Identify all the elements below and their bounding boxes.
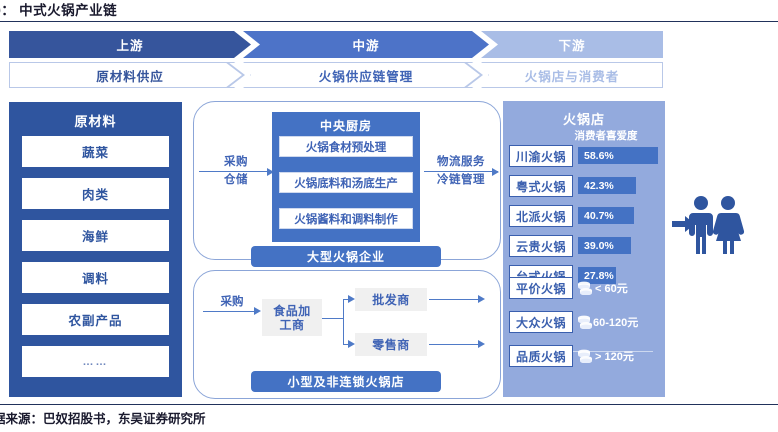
bar-category-0[interactable]: 川渝火锅: [509, 145, 573, 167]
top-rule: [0, 21, 778, 22]
flow-line-split-vertical: [343, 299, 344, 345]
coin-stack-icon-2: [575, 348, 594, 363]
price-tier-name-2[interactable]: 品质火锅: [509, 345, 573, 367]
central-kitchen-title: 中央厨房: [272, 117, 420, 134]
raw-material-item-more[interactable]: ……: [22, 346, 169, 377]
bar-value-0: 58.6%: [578, 147, 658, 164]
hotpot-store-title: 火锅店: [503, 109, 665, 128]
price-tier-range-2: > 120元: [595, 345, 634, 367]
role-supply-chain-mgmt[interactable]: 火锅供应链管理: [243, 62, 489, 88]
coldchain-label: 冷链管理: [424, 173, 498, 188]
bar-category-2[interactable]: 北派火锅: [509, 205, 573, 227]
arrowhead-icon-retail: [348, 340, 355, 348]
tier-downstream[interactable]: 下游: [481, 31, 663, 58]
tier-upstream[interactable]: 上游: [9, 31, 251, 58]
price-tier-range-1: 60-120元: [593, 311, 638, 333]
arrowhead-icon-wholesale-out: [478, 295, 485, 303]
procurement-label: 采购: [199, 155, 273, 170]
food-processor-node[interactable]: 食品加 工商: [262, 299, 322, 336]
role-stores-consumers[interactable]: 火锅店与消费者: [481, 62, 663, 88]
procurement-label-2: 采购: [205, 293, 259, 309]
wholesaler-node[interactable]: 批发商: [355, 288, 427, 311]
flow-line-purchase: [203, 311, 255, 312]
kitchen-item-soupbase[interactable]: 火锅底料和汤底生产: [279, 172, 413, 193]
source-note: 据来源：巴奴招股书，东吴证券研究所: [0, 408, 513, 430]
small-chain-label[interactable]: 小型及非连锁火锅店: [251, 371, 441, 392]
price-tier-range-0: < 60元: [595, 277, 628, 299]
exhibit-canvas: 9： 中式火锅产业链 上游 中游 下游 原材料供应 火锅供应链管理 火锅店与消费…: [0, 0, 778, 432]
large-enterprise-label[interactable]: 大型火锅企业: [251, 246, 441, 267]
raw-material-item-vegetables[interactable]: 蔬菜: [22, 136, 169, 167]
storage-label: 仓储: [199, 173, 273, 188]
arrowhead-icon-wholesale: [348, 295, 355, 303]
processor-line-1: 食品加: [273, 304, 311, 318]
hotpot-store-panel: 火锅店 消费者喜爱度 川渝火锅 58.6% 粤式火锅 42.3% 北派火锅 40…: [503, 101, 665, 397]
people-couple-icon: [678, 194, 750, 256]
raw-material-item-agri[interactable]: 农副产品: [22, 304, 169, 335]
procurement-storage-arrow: 采购 仓储: [199, 155, 273, 188]
coin-stack-icon-1: [575, 314, 594, 329]
flow-line-retail-out: [429, 344, 481, 345]
arrowhead-icon-retail-out: [478, 340, 485, 348]
exhibit-title: 9： 中式火锅产业链: [0, 0, 414, 22]
processor-line-2: 工商: [279, 318, 304, 332]
bar-value-3: 39.0%: [578, 237, 631, 254]
role-raw-material-supply[interactable]: 原材料供应: [9, 62, 251, 88]
raw-material-item-seasoning[interactable]: 调料: [22, 262, 169, 293]
raw-material-item-meat[interactable]: 肉类: [22, 178, 169, 209]
bar-category-1[interactable]: 粤式火锅: [509, 175, 573, 197]
chart-subtitle: 消费者喜爱度: [551, 128, 661, 143]
role-band: 原材料供应 火锅供应链管理 火锅店与消费者: [9, 62, 663, 88]
flow-line-split-stem: [322, 318, 344, 319]
bar-value-2: 40.7%: [578, 207, 634, 224]
tier-midstream[interactable]: 中游: [243, 31, 489, 58]
kitchen-item-prep[interactable]: 火锅食材预处理: [279, 136, 413, 157]
bar-category-3[interactable]: 云贵火锅: [509, 235, 573, 257]
retailer-node[interactable]: 零售商: [355, 333, 427, 356]
bottom-rule: [0, 404, 778, 405]
price-tier-name-1[interactable]: 大众火锅: [509, 311, 573, 333]
logistics-label: 物流服务: [424, 155, 498, 170]
logistics-coldchain-arrow: 物流服务 冷链管理: [424, 155, 498, 188]
tier-band: 上游 中游 下游: [9, 31, 663, 58]
raw-materials-title: 原材料: [9, 111, 182, 130]
raw-material-item-seafood[interactable]: 海鲜: [22, 220, 169, 251]
bar-value-1: 42.3%: [578, 177, 636, 194]
arrowhead-icon-purchase: [254, 307, 261, 315]
price-tier-name-0[interactable]: 平价火锅: [509, 277, 573, 299]
coin-stack-icon-0: [575, 280, 594, 295]
arrow-line-icon: [199, 171, 273, 172]
kitchen-item-sauce[interactable]: 火锅酱料和调料制作: [279, 208, 413, 229]
flow-line-wholesale-out: [429, 299, 481, 300]
central-kitchen-box: 中央厨房 火锅食材预处理 火锅底料和汤底生产 火锅酱料和调料制作: [272, 112, 420, 242]
raw-materials-panel: 原材料 蔬菜 肉类 海鲜 调料 农副产品 ……: [9, 102, 182, 397]
arrow-line-icon: [424, 171, 498, 172]
